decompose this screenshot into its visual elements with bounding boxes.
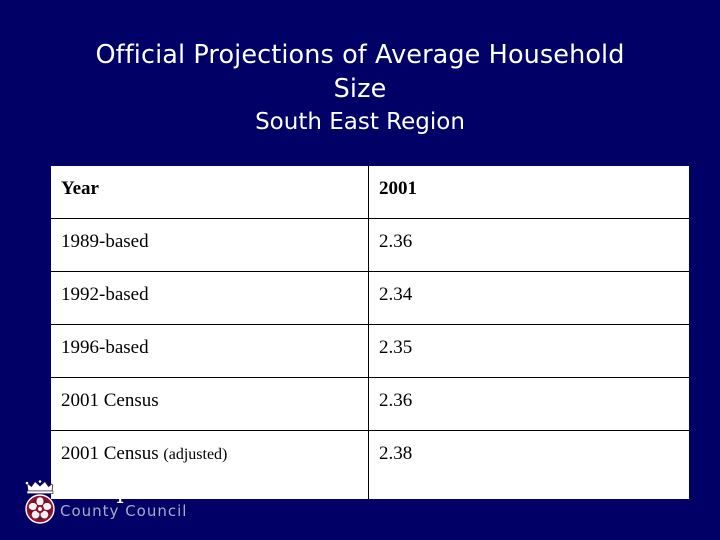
slide: Official Projections of Average Househol…: [0, 0, 720, 540]
row-label: 1992-based: [51, 272, 369, 325]
logo-wordmark: Hampshire County Council: [60, 479, 220, 520]
table-header-row: Year 2001: [51, 166, 689, 219]
row-label: 1996-based: [51, 325, 369, 378]
row-value: 2.38: [369, 431, 690, 500]
slide-title: Official Projections of Average Househol…: [36, 38, 684, 139]
table-row: 1989-based 2.36: [51, 219, 689, 272]
row-value: 2.36: [369, 219, 690, 272]
row-value: 2.35: [369, 325, 690, 378]
logo-subtitle: County Council: [60, 503, 220, 520]
hampshire-crown-rose-crest-icon: [22, 480, 58, 526]
table-row: 1992-based 2.34: [51, 272, 689, 325]
title-line-1: Official Projections of Average Househol…: [36, 38, 684, 72]
row-label: 1989-based: [51, 219, 369, 272]
household-size-table: Year 2001 1989-based 2.36 1992-based 2.3…: [51, 166, 689, 499]
row-value: 2.34: [369, 272, 690, 325]
table-row: 2001 Census 2.36: [51, 378, 689, 431]
row-label: 2001 Census: [51, 378, 369, 431]
row-value: 2.36: [369, 378, 690, 431]
table-header-year: Year: [51, 166, 369, 219]
row-label-text: 2001 Census: [61, 443, 163, 464]
title-line-2: Size: [36, 72, 684, 106]
title-subtitle: South East Region: [36, 106, 684, 139]
logo-name: Hampshire: [60, 479, 220, 503]
table-header-2001: 2001: [369, 166, 690, 219]
hampshire-county-council-logo: Hampshire County Council: [18, 478, 218, 528]
row-label-note: (adjusted): [163, 446, 227, 463]
table-row: 1996-based 2.35: [51, 325, 689, 378]
